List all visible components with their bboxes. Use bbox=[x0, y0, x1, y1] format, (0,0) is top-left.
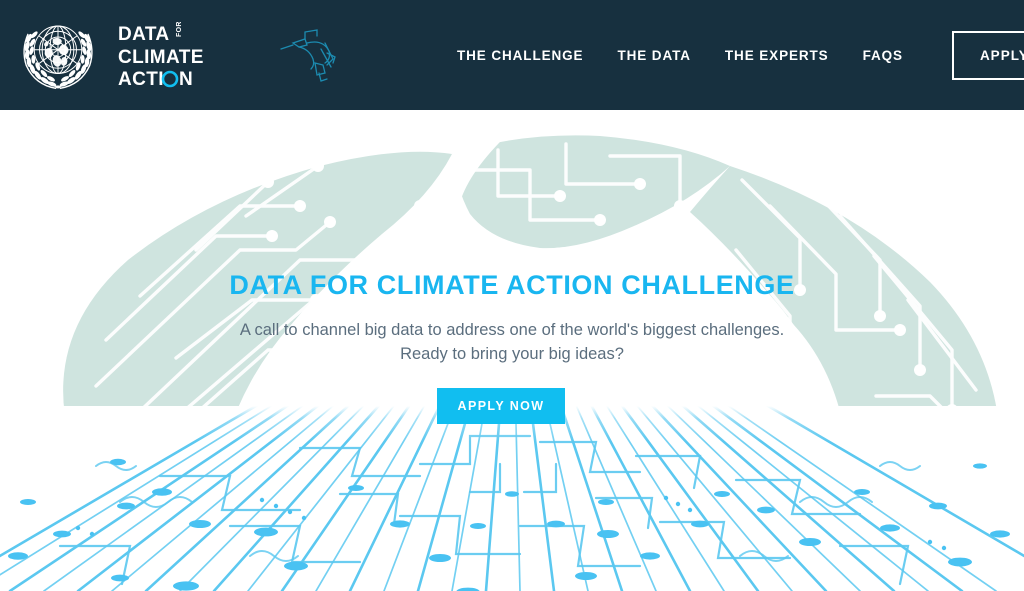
hero-subtitle-line-1: A call to channel big data to address on… bbox=[240, 321, 784, 339]
wordmark-data-for-climate-action: DATA FOR CLIMATE ACTI N bbox=[118, 22, 273, 88]
wordmark-line-climate: CLIMATE bbox=[118, 47, 204, 68]
wordmark-line-action: ACTI bbox=[118, 69, 164, 88]
nav-faqs[interactable]: FAQS bbox=[846, 48, 920, 63]
hero-section: DATA FOR CLIMATE ACTION CHALLENGE A call… bbox=[0, 110, 1024, 591]
un-emblem-icon bbox=[14, 11, 102, 99]
hero-subtitle-line-2: Ready to bring your big ideas? bbox=[400, 345, 624, 363]
main-navigation: THE CHALLENGE THE DATA THE EXPERTS FAQS … bbox=[440, 0, 1024, 110]
nav-the-experts[interactable]: THE EXPERTS bbox=[708, 48, 846, 63]
brand-logo[interactable]: DATA FOR CLIMATE ACTI N bbox=[14, 11, 341, 99]
hero-subtitle: A call to channel big data to address on… bbox=[0, 319, 1024, 367]
nav-the-data[interactable]: THE DATA bbox=[600, 48, 707, 63]
wordmark-line-data: DATA bbox=[118, 24, 170, 45]
site-header: DATA FOR CLIMATE ACTI N bbox=[0, 0, 1024, 110]
apply-now-button[interactable]: APPLY NOW bbox=[437, 388, 565, 424]
nav-the-challenge[interactable]: THE CHALLENGE bbox=[440, 48, 600, 63]
hero-title: DATA FOR CLIMATE ACTION CHALLENGE bbox=[0, 270, 1024, 301]
apply-here-button[interactable]: APPLY HERE bbox=[952, 31, 1024, 80]
wordmark-line-action-n: N bbox=[179, 69, 193, 88]
wordmark-superscript-for: FOR bbox=[176, 22, 183, 37]
page-root: DATA FOR CLIMATE ACTI N bbox=[0, 0, 1024, 591]
wordmark-cyan-o-icon bbox=[163, 72, 177, 86]
hero-content: DATA FOR CLIMATE ACTION CHALLENGE A call… bbox=[0, 110, 1024, 591]
hand-globe-line-art-icon bbox=[279, 25, 341, 85]
